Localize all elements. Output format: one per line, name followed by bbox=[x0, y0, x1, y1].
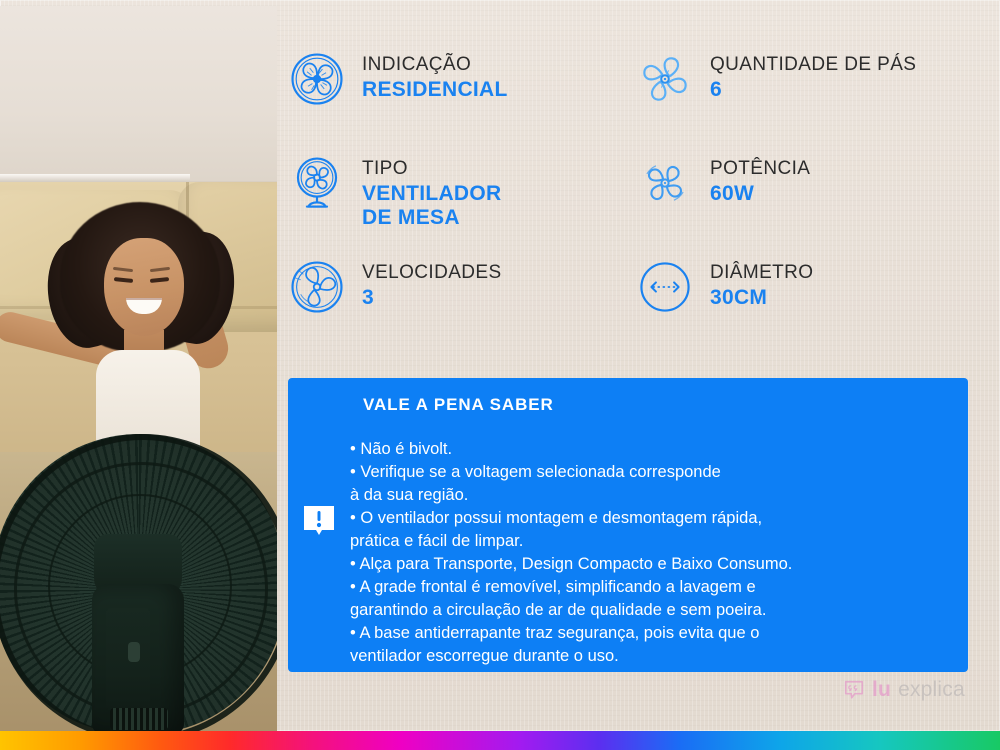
spec-label: TIPO bbox=[362, 158, 502, 180]
diameter-icon bbox=[636, 258, 694, 316]
table-fan-icon bbox=[288, 154, 346, 212]
spec-item-tipo: TIPO VENTILADOR DE MESA bbox=[288, 148, 636, 252]
specifications-grid: INDICAÇÃO RESIDENCIAL QUANTIDADE DE PÁS bbox=[288, 44, 978, 356]
info-bullet: • A base antiderrapante traz segurança, … bbox=[350, 622, 950, 668]
speech-bubble-quote-icon bbox=[843, 679, 865, 701]
spec-text-tipo: TIPO VENTILADOR DE MESA bbox=[362, 148, 502, 229]
photo-fan-knob bbox=[128, 642, 140, 662]
lifestyle-photo bbox=[0, 6, 277, 731]
rainbow-bar bbox=[0, 731, 1000, 750]
spec-value: 3 bbox=[362, 286, 502, 310]
product-infographic: INDICAÇÃO RESIDENCIAL QUANTIDADE DE PÁS bbox=[0, 0, 1000, 750]
spec-item-velocidades: VELOCIDADES 3 bbox=[288, 252, 636, 356]
spec-label: POTÊNCIA bbox=[710, 158, 810, 180]
spec-item-diametro: DIÂMETRO 30CM bbox=[636, 252, 978, 356]
info-panel-bullets: • Não é bivolt. • Verifique se a voltage… bbox=[350, 438, 950, 668]
spec-value: VENTILADOR DE MESA bbox=[362, 182, 502, 229]
logo-word-explica: explica bbox=[898, 678, 965, 702]
photo-fan bbox=[0, 416, 277, 731]
photo-wall bbox=[0, 6, 277, 181]
fan-circle-icon bbox=[288, 50, 346, 108]
photo-fan-vent bbox=[110, 708, 168, 730]
info-panel: VALE A PENA SABER • Não é bivolt. • Veri… bbox=[288, 378, 968, 672]
spec-text-quantidade-de-pas: QUANTIDADE DE PÁS 6 bbox=[710, 44, 916, 102]
spec-text-indicacao: INDICAÇÃO RESIDENCIAL bbox=[362, 44, 508, 102]
spec-text-velocidades: VELOCIDADES 3 bbox=[362, 252, 502, 310]
spec-value: 30CM bbox=[710, 286, 813, 310]
info-bullet: • A grade frontal é removível, simplific… bbox=[350, 576, 950, 622]
info-panel-title: VALE A PENA SABER bbox=[363, 395, 554, 415]
info-bullet: • O ventilador possui montagem e desmont… bbox=[350, 507, 950, 553]
fan-blades-icon bbox=[636, 50, 694, 108]
info-bullet: • Não é bivolt. bbox=[350, 438, 950, 461]
info-bullet: • Alça para Transporte, Design Compacto … bbox=[350, 553, 950, 576]
spec-value: RESIDENCIAL bbox=[362, 78, 508, 102]
spec-value: 60W bbox=[710, 182, 810, 206]
spec-text-diametro: DIÂMETRO 30CM bbox=[710, 252, 813, 310]
spec-label: VELOCIDADES bbox=[362, 262, 502, 284]
lu-explica-logo: lu explica bbox=[843, 678, 965, 702]
info-bullet: • Verifique se a voltagem selecionada co… bbox=[350, 461, 950, 507]
logo-brand-lu: lu bbox=[872, 678, 891, 702]
spec-item-indicacao: INDICAÇÃO RESIDENCIAL bbox=[288, 44, 636, 148]
fan-speed-icon bbox=[288, 258, 346, 316]
spec-label: INDICAÇÃO bbox=[362, 54, 508, 76]
spec-label: DIÂMETRO bbox=[710, 262, 813, 284]
spec-label: QUANTIDADE DE PÁS bbox=[710, 54, 916, 76]
fan-power-icon bbox=[636, 154, 694, 212]
spec-value: 6 bbox=[710, 78, 916, 102]
spec-text-potencia: POTÊNCIA 60W bbox=[710, 148, 810, 206]
alert-bubble-icon bbox=[302, 504, 336, 542]
spec-item-quantidade-de-pas: QUANTIDADE DE PÁS 6 bbox=[636, 44, 978, 148]
photo-girl-face bbox=[104, 238, 184, 336]
spec-item-potencia: POTÊNCIA 60W bbox=[636, 148, 978, 252]
